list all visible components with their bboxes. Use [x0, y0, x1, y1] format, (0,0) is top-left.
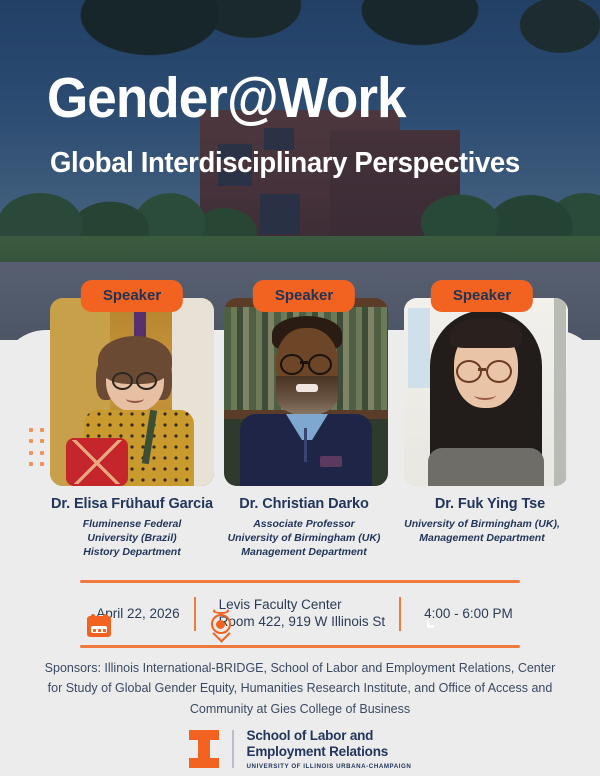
speaker-photo-christian-darko: [224, 298, 388, 486]
event-location: Levis Faculty Center Room 422, 919 W Ill…: [196, 597, 400, 631]
logo-wordmark: School of Labor and Employment Relations…: [247, 728, 412, 770]
logo-line-3: UNIVERSITY OF ILLINOIS URBANA-CHAMPAIGN: [247, 763, 412, 770]
event-poster: Gender@Work Global Interdisciplinary Per…: [0, 0, 600, 776]
poster-title: Gender@Work: [47, 70, 531, 127]
logo-line-1: School of Labor and: [247, 728, 412, 744]
speaker-badge: Speaker: [431, 280, 533, 312]
divider-above-details: [80, 580, 520, 583]
speaker-photo-elisa-fruhauf-garcia: [50, 298, 214, 486]
speaker-name: Dr. Christian Darko: [200, 496, 408, 512]
logo-divider: [232, 730, 234, 768]
event-time-text: 4:00 - 6:00 PM: [424, 606, 513, 623]
logo-line-2: Employment Relations: [247, 744, 412, 760]
event-time: 4:00 - 6:00 PM: [401, 606, 527, 623]
poster-subtitle: Global Interdisciplinary Perspectives: [50, 148, 563, 180]
divider-below-details: [80, 645, 520, 648]
speaker-badge: Speaker: [253, 280, 355, 312]
sponsors-text: Sponsors: Illinois International-BRIDGE,…: [40, 658, 560, 719]
speaker-photo-fuk-ying-tse: [404, 298, 568, 486]
speaker-badge: Speaker: [81, 280, 183, 312]
block-i-icon: [189, 730, 219, 768]
event-details-bar: April 22, 2026 Levis Faculty Center Room…: [0, 590, 600, 638]
speakers-section: Speaker Dr. Elisa Frühauf Garcia Flumine…: [0, 280, 600, 555]
speaker-name: Dr. Fuk Ying Tse: [386, 496, 594, 512]
event-date: April 22, 2026: [73, 606, 193, 623]
location-line-2: Room 422, 919 W Illinois St: [219, 614, 386, 631]
institution-logo: School of Labor and Employment Relations…: [0, 724, 600, 774]
event-location-text: Levis Faculty Center Room 422, 919 W Ill…: [219, 597, 386, 631]
location-line-1: Levis Faculty Center: [219, 597, 386, 614]
speaker-affiliation: University of Birmingham (UK), Managemen…: [376, 518, 588, 546]
